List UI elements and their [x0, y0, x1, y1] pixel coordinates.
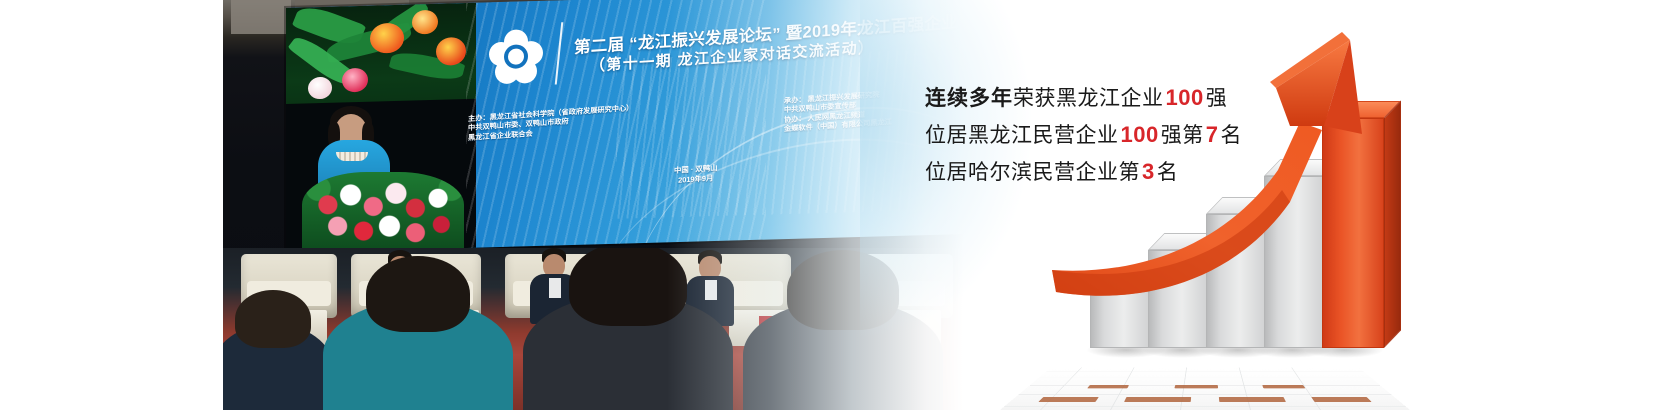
flower-decor [412, 10, 438, 35]
flower-decor [342, 68, 368, 93]
podium-speaker [286, 96, 476, 254]
event-place-date: 中国 · 双鸭山 2019年9月 [674, 163, 718, 186]
audience-person [223, 324, 333, 410]
growth-arrow-icon [990, 30, 1410, 410]
growth-bar-chart [990, 30, 1410, 410]
stage-area [223, 248, 963, 410]
promo-banner: 第二届 “龙江振兴发展论坛” 暨2019年龙江百强企业年会 （第十一期 龙江企业… [0, 0, 1680, 410]
conference-stage-photo: 第二届 “龙江振兴发展论坛” 暨2019年龙江百强企业年会 （第十一期 龙江企业… [223, 0, 963, 410]
flower-decor [436, 37, 466, 66]
flower-bouquet [302, 172, 464, 254]
flower-decor [370, 23, 404, 54]
audience-person [323, 300, 513, 410]
audience-person [523, 294, 733, 410]
audience-person [743, 300, 943, 410]
pearl-necklace [336, 152, 368, 161]
flower-logo-icon [489, 29, 543, 85]
ceiling-panel [231, 0, 291, 34]
organizers-right-text: 承办： 黑龙江振兴发展研究院 中共双鸭山市委宣传部 协办： 人民网黑龙江频道 金… [784, 89, 892, 134]
